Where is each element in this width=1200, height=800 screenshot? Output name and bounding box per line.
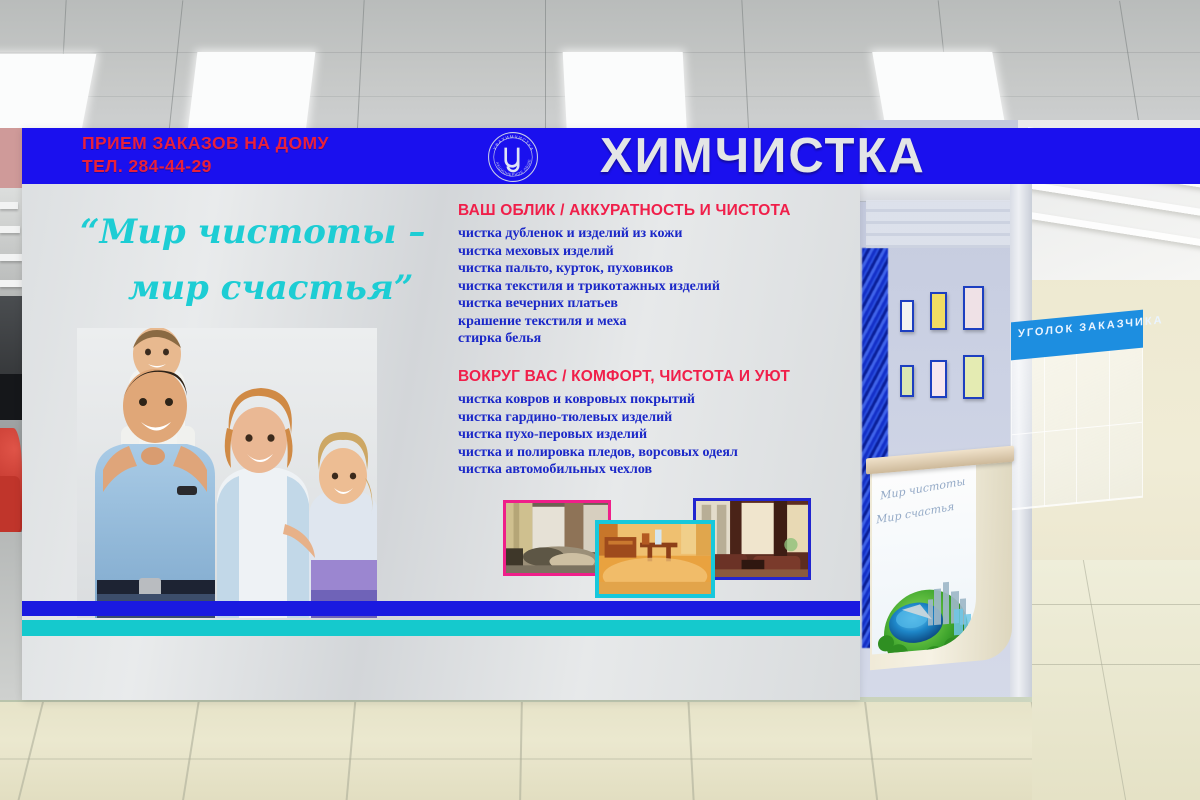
service-item: чистка вечерних платьев: [458, 295, 791, 313]
slogan-line2: мир счастья”: [128, 260, 460, 316]
eco-globe-graphic: [872, 555, 976, 654]
service-item: чистка автомобильных чехлов: [458, 461, 790, 479]
brochure-holder[interactable]: [1011, 346, 1143, 511]
adjacent-room-sliver: [0, 128, 22, 700]
soffit-louvres: [866, 200, 1022, 248]
home-pickup-line1: ПРИЕМ ЗАКАЗОВ НА ДОМУ: [82, 132, 329, 155]
service-item: стирка белья: [458, 330, 791, 348]
interior-dining-room[interactable]: [595, 520, 715, 598]
certificate-frame[interactable]: [930, 292, 947, 330]
service-item: чистка пухо-перовых изделий: [458, 426, 790, 444]
service-item: чистка меховых изделий: [458, 243, 791, 261]
desk-script-line1: Мир чистоты: [880, 475, 966, 503]
page-title: ХИМЧИСТКА: [600, 126, 1120, 188]
service-item: крашение текстиля и меха: [458, 313, 791, 331]
service-item: чистка пальто, курток, пуховиков: [458, 260, 791, 278]
family-photo: [77, 328, 377, 618]
reception-desk-graphic-panel: Мир чистоты Мир счастья: [872, 457, 976, 654]
service-heading: ВОКРУГ ВАС / КОМФОРТ, ЧИСТОТА И УЮТ: [458, 368, 790, 386]
ceiling-light-panel: [187, 52, 316, 140]
service-heading: ВАШ ОБЛИК / АККУРАТНОСТЬ И ЧИСТОТА: [458, 202, 791, 220]
service-block-appearance: ВАШ ОБЛИК / АККУРАТНОСТЬ И ЧИСТОТА чистк…: [458, 202, 791, 348]
store-interior-scene: УГОЛОК ЗАКАЗЧИКА Мир чистоты Мир счастья: [0, 0, 1200, 800]
service-item: чистка гардино-тюлевых изделий: [458, 409, 790, 427]
home-pickup-notice: ПРИЕМ ЗАКАЗОВ НА ДОМУ ТЕЛ. 284-44-29: [82, 132, 329, 178]
floor: [0, 700, 1200, 800]
certificate-frame[interactable]: [930, 360, 947, 398]
slogan-line1: “Мир чистоты –: [80, 212, 425, 252]
certificate-frame[interactable]: [963, 355, 984, 399]
certificate-frame[interactable]: [900, 365, 914, 397]
ceiling: [0, 0, 1200, 140]
service-item: чистка и полировка пледов, ворсовых одея…: [458, 444, 790, 462]
company-seal-icon: УФАХИМЧИСТКА АКЦИОНЕРНОЕ ОБЩЕСТВО: [487, 131, 539, 183]
banner-stripe-cyan: [22, 620, 860, 636]
banner-stripe-blue: [22, 601, 860, 616]
desk-script-line2: Мир счастья: [876, 500, 955, 527]
certificate-frame[interactable]: [900, 300, 914, 332]
service-item: чистка дубленок и изделий из кожи: [458, 225, 791, 243]
service-block-home: ВОКРУГ ВАС / КОМФОРТ, ЧИСТОТА И УЮТ чист…: [458, 368, 790, 479]
slogan-quote: “Мир чистоты – мир счастья”: [80, 204, 460, 316]
right-room-floor: [1032, 560, 1200, 800]
home-pickup-phone: ТЕЛ. 284-44-29: [82, 155, 329, 178]
service-item: чистка текстиля и трикотажных изделий: [458, 278, 791, 296]
service-item: чистка ковров и ковровых покрытий: [458, 391, 790, 409]
certificate-frame[interactable]: [963, 286, 984, 330]
main-wall-banner: ПРИЕМ ЗАКАЗОВ НА ДОМУ ТЕЛ. 284-44-29 “Ми…: [22, 128, 860, 700]
